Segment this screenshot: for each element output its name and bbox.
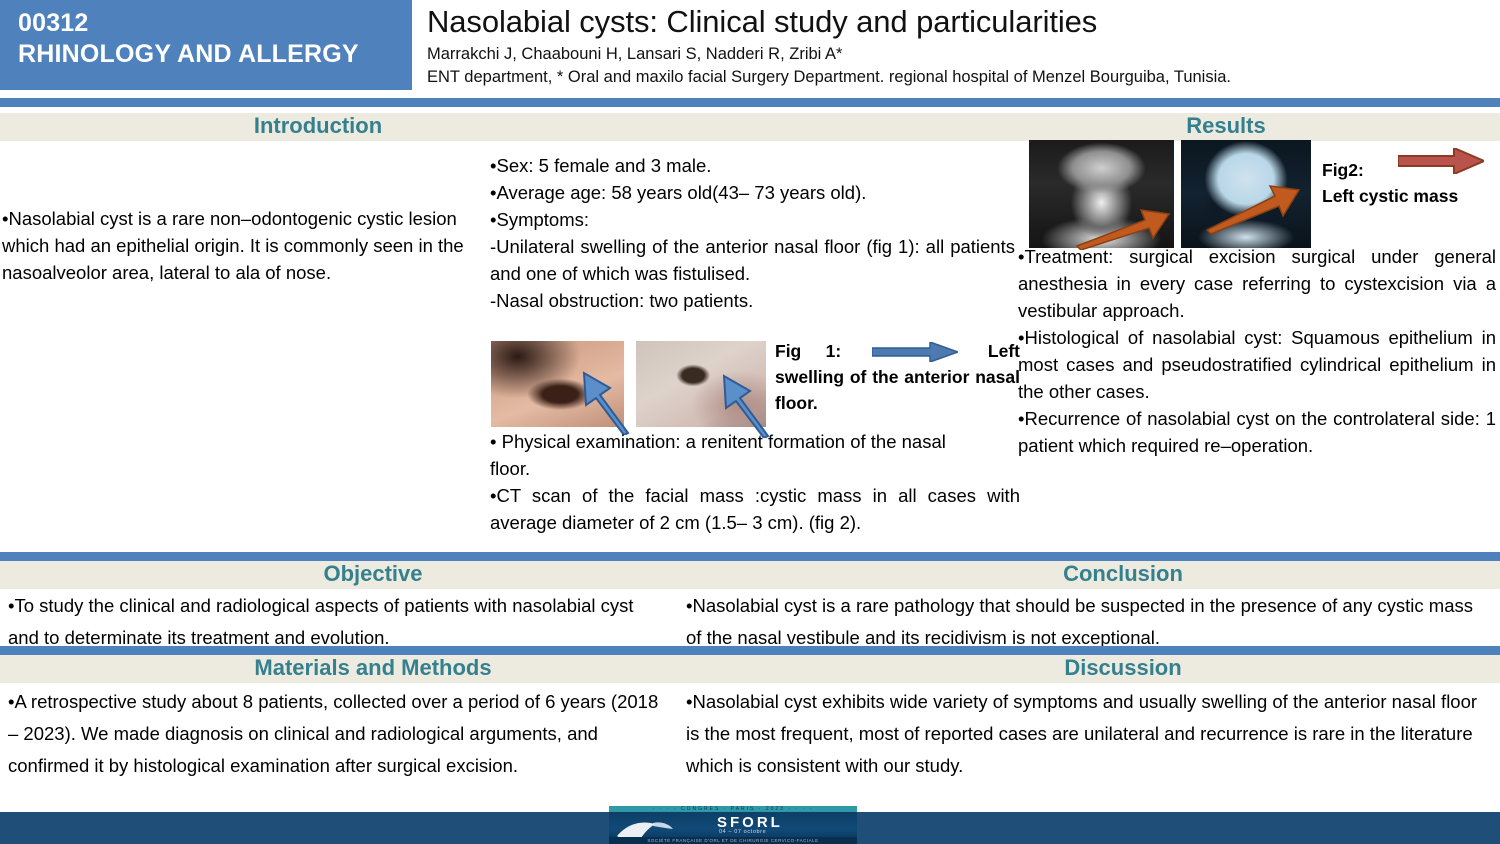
ct-coronal-scan <box>1181 140 1311 248</box>
figure-1-caption: Fig 1: Left swelling of the anterior nas… <box>775 338 1020 416</box>
divider-bar-top <box>0 98 1500 107</box>
ct-scan-text: •CT scan of the facial mass :cystic mass… <box>490 482 1020 536</box>
middle-line-age: •Average age: 58 years old(43– 73 years … <box>490 179 1020 206</box>
title-block: Nasolabial cysts: Clinical study and par… <box>427 2 1497 88</box>
poster-header: 00312 RHINOLOGY AND ALLERGY Nasolabial c… <box>0 0 1500 98</box>
introduction-column: •Nasolabial cyst is a rare non–odontogen… <box>0 205 487 286</box>
materials-column: •A retrospective study about 8 patients,… <box>0 684 672 782</box>
section-heading-objective: Objective <box>0 560 746 588</box>
section-heading-conclusion: Conclusion <box>746 560 1500 588</box>
section-heading-introduction: Introduction <box>0 112 636 140</box>
logo-subtitle: 04 – 07 octobre <box>719 829 766 835</box>
figure-2-caption: Fig2: Left cystic mass <box>1322 157 1500 209</box>
track-name: RHINOLOGY AND ALLERGY <box>18 38 412 70</box>
section-heading-discussion: Discussion <box>746 654 1500 682</box>
section-heading-materials: Materials and Methods <box>0 654 746 682</box>
figure-2-caption-line1: Fig2: <box>1322 157 1500 183</box>
discussion-column: •Nasolabial cyst exhibits wide variety o… <box>680 684 1500 782</box>
ct-axial-scan <box>1029 140 1174 248</box>
section-heading-results: Results <box>952 112 1500 140</box>
clinical-photo-nasal-swelling-1 <box>491 341 624 427</box>
materials-text: •A retrospective study about 8 patients,… <box>8 686 662 782</box>
middle-line-swelling: -Unilateral swelling of the anterior nas… <box>490 233 1015 287</box>
introduction-text: •Nasolabial cyst is a rare non–odontogen… <box>2 205 479 286</box>
abstract-number: 00312 <box>18 8 412 38</box>
logo-top-text: · · · · CONGRES · PARIS · 2023 · · · · <box>609 806 857 813</box>
physical-examination-text: • Physical examination: a renitent forma… <box>490 428 990 482</box>
middle-column: •Sex: 5 female and 3 male. •Average age:… <box>490 152 1020 314</box>
sforl-congress-logo: · · · · CONGRES · PARIS · 2023 · · · · S… <box>609 806 857 844</box>
objective-column: •To study the clinical and radiological … <box>0 588 672 654</box>
figure-2-caption-line2: Left cystic mass <box>1322 183 1500 209</box>
middle-line-obstruction: -Nasal obstruction: two patients. <box>490 287 1020 314</box>
logo-wordmark: SFORL <box>717 815 783 830</box>
results-text: •Treatment: surgical excision surgical u… <box>1018 243 1496 459</box>
poster-canvas: 00312 RHINOLOGY AND ALLERGY Nasolabial c… <box>0 0 1500 844</box>
section-band-row3: Materials and Methods Discussion <box>0 655 1500 683</box>
middle-line-symptoms: •Symptoms: <box>490 206 1020 233</box>
clinical-photo-nasal-swelling-2 <box>636 341 766 427</box>
figure-1-arrow-icon <box>872 342 958 362</box>
conclusion-text: •Nasolabial cyst is a rare pathology tha… <box>686 590 1492 654</box>
page-title: Nasolabial cysts: Clinical study and par… <box>427 2 1497 42</box>
section-band-row2: Objective Conclusion <box>0 561 1500 589</box>
abstract-id-box: 00312 RHINOLOGY AND ALLERGY <box>0 0 412 90</box>
figure-1-caption-lead: Fig 1: <box>775 341 841 361</box>
logo-bottom-text: SOCIÉTÉ FRANÇAISE D'ORL ET DE CHIRURGIE … <box>609 837 857 844</box>
discussion-text: •Nasolabial cyst exhibits wide variety o… <box>686 686 1492 782</box>
objective-text: •To study the clinical and radiological … <box>8 590 662 654</box>
middle-line-sex: •Sex: 5 female and 3 male. <box>490 152 1020 179</box>
middle-column-after-figure: • Physical examination: a renitent forma… <box>490 428 1020 536</box>
affiliation-line: ENT department, * Oral and maxilo facial… <box>427 66 1497 88</box>
section-band-row1: Introduction Results <box>0 113 1500 141</box>
results-column: •Treatment: surgical excision surgical u… <box>1018 243 1500 459</box>
authors-line: Marrakchi J, Chaabouni H, Lansari S, Nad… <box>427 43 1497 65</box>
conclusion-column: •Nasolabial cyst is a rare pathology tha… <box>680 588 1500 654</box>
